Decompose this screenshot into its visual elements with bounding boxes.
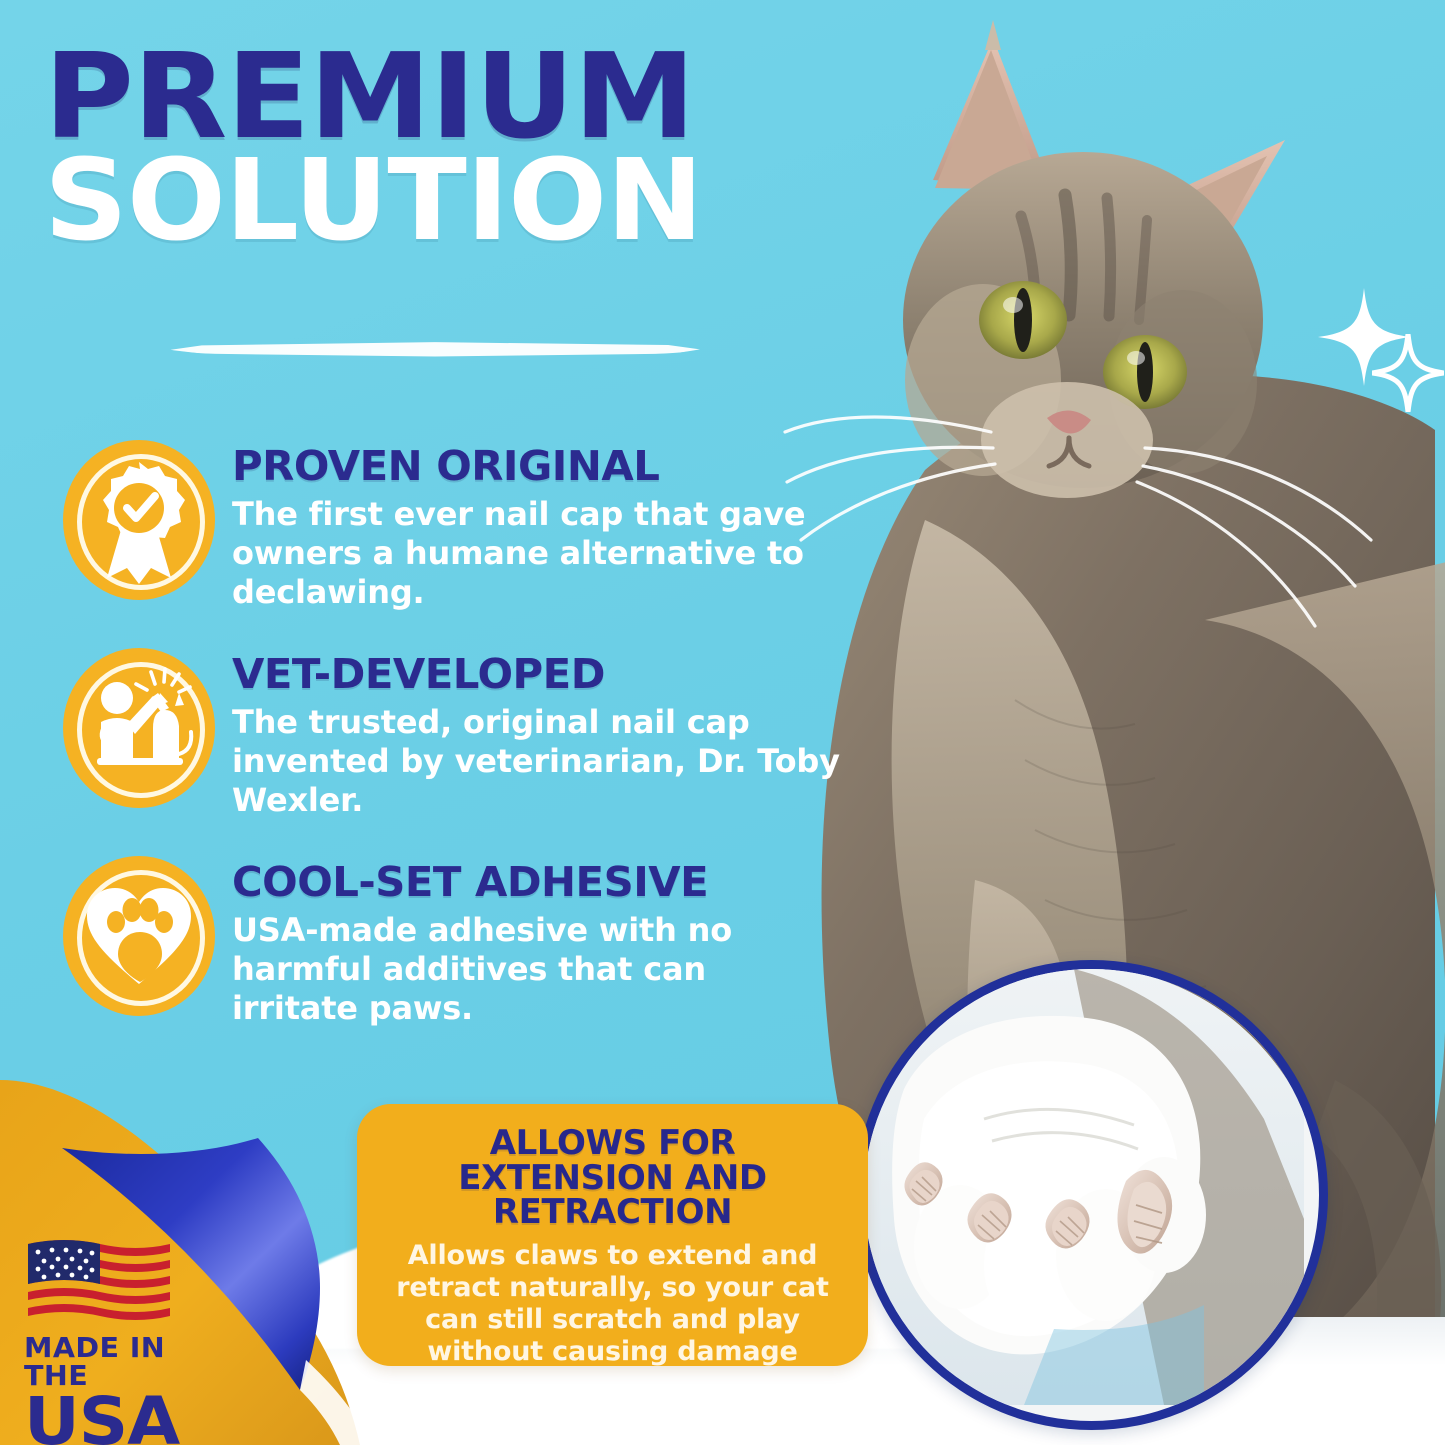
feature-item-cool-set-adhesive: COOL-SET ADHESIVE USA-made adhesive with… xyxy=(60,856,840,1028)
headline-line-1: PREMIUM xyxy=(44,46,876,147)
paw-closeup-magnifier xyxy=(855,960,1328,1430)
feature-title: PROVEN ORIGINAL xyxy=(232,446,852,487)
feature-body: The trusted, original nail cap invented … xyxy=(232,703,840,820)
usa-badge-line-2: USA xyxy=(24,1392,242,1445)
headline-block: PREMIUM SOLUTION xyxy=(44,46,844,250)
headline-line-2: SOLUTION xyxy=(44,153,876,249)
vet-high-five-cat-icon xyxy=(60,648,218,808)
feature-list: PROVEN ORIGINAL The first ever nail cap … xyxy=(60,440,840,1064)
made-in-usa-badge: MADE IN THE USA xyxy=(24,1236,234,1445)
heart-paw-icon xyxy=(60,856,218,1016)
sparkle-star-outline-icon xyxy=(1372,334,1444,412)
usa-badge-line-1: MADE IN THE xyxy=(24,1334,238,1390)
award-ribbon-check-icon xyxy=(60,440,218,600)
product-infographic: PREMIUM SOLUTION xyxy=(0,0,1445,1445)
usa-flag-icon xyxy=(24,1236,174,1324)
feature-item-proven-original: PROVEN ORIGINAL The first ever nail cap … xyxy=(60,440,840,612)
feature-title: VET-DEVELOPED xyxy=(232,654,852,695)
feature-item-vet-developed: VET-DEVELOPED The trusted, original nail… xyxy=(60,648,840,820)
feature-body: USA-made adhesive with no harmful additi… xyxy=(232,911,840,1028)
feature-title: COOL-SET ADHESIVE xyxy=(232,862,852,903)
feature-body: The first ever nail cap that gave owners… xyxy=(232,495,840,612)
